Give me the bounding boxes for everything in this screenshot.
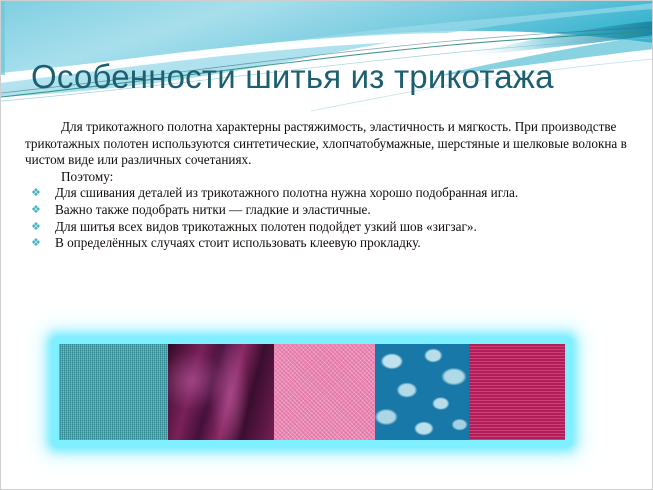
- list-item: ❖ Для шитья всех видов трикотажных полот…: [25, 219, 631, 236]
- list-item-label: Важно также подобрать нитки — гладкие и …: [55, 202, 371, 217]
- floret-bullet-icon: ❖: [31, 219, 41, 236]
- floret-bullet-icon: ❖: [31, 185, 41, 202]
- intro-paragraph: Для трикотажного полотна характерны раст…: [25, 119, 631, 169]
- header-wave-decoration: [1, 1, 653, 113]
- list-item-label: Для сшивания деталей из трикотажного пол…: [55, 185, 518, 200]
- floret-bullet-icon: ❖: [31, 202, 41, 219]
- purple-velvet-swatch: [168, 344, 274, 440]
- presentation-slide: Особенности шитья из трикотажа Для трико…: [0, 0, 653, 490]
- tips-bullet-list: ❖ Для сшивания деталей из трикотажного п…: [25, 185, 631, 251]
- list-item: ❖ Важно также подобрать нитки — гладкие …: [25, 202, 631, 219]
- teal-knit-swatch: [59, 344, 168, 440]
- blue-lace-swatch: [375, 344, 469, 440]
- slide-title: Особенности шитья из трикотажа: [31, 58, 631, 96]
- list-item: ❖ Для сшивания деталей из трикотажного п…: [25, 185, 631, 202]
- fabric-swatch-strip: [59, 344, 565, 440]
- slide-body: Для трикотажного полотна характерны раст…: [25, 119, 631, 252]
- fabric-swatch-figure: [53, 338, 571, 446]
- list-item-label: Для шитья всех видов трикотажных полотен…: [55, 219, 477, 234]
- pink-fleece-swatch: [274, 344, 375, 440]
- list-item: ❖ В определённых случаях стоит использов…: [25, 235, 631, 252]
- therefore-paragraph: Поэтому:: [25, 169, 631, 186]
- floret-bullet-icon: ❖: [31, 235, 41, 252]
- magenta-rib-swatch: [469, 344, 565, 440]
- list-item-label: В определённых случаях стоит использоват…: [55, 235, 421, 250]
